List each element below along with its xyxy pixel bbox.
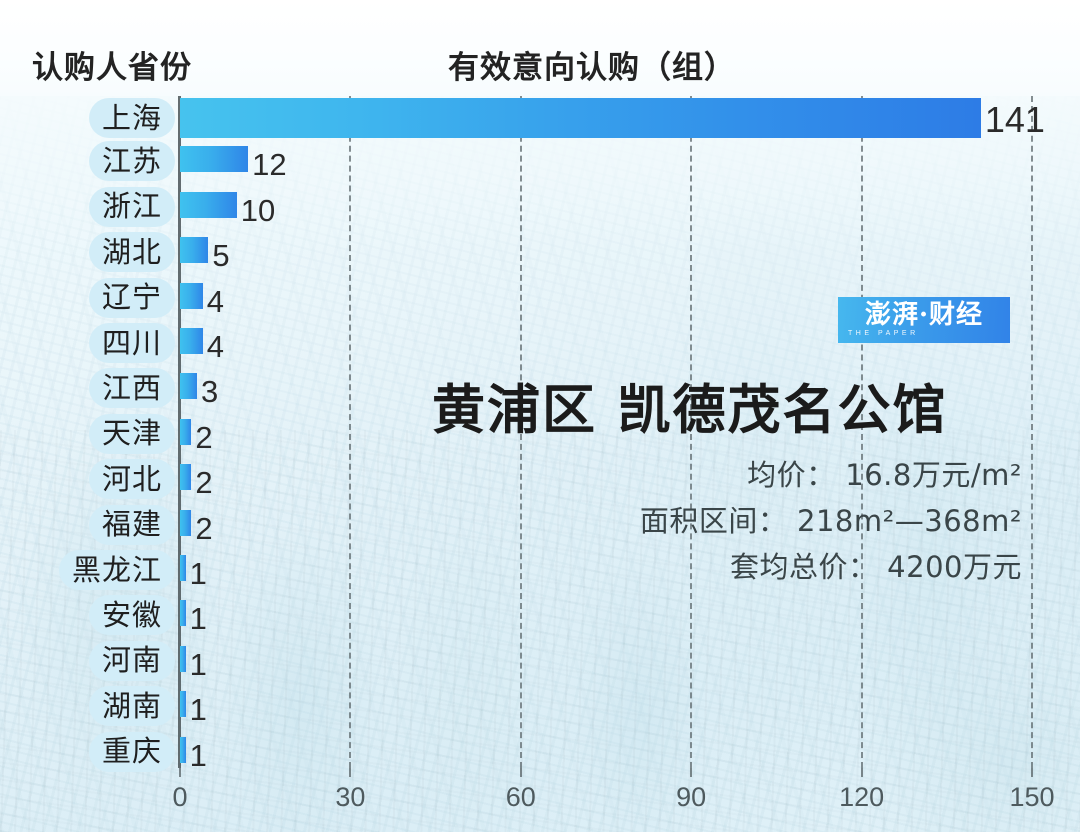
province-label-text: 湖南 — [102, 692, 162, 721]
province-label-text: 湖北 — [102, 238, 162, 267]
bar-value-辽宁: 4 — [207, 286, 224, 317]
column-header-province: 认购人省份 — [32, 42, 192, 87]
province-label-text: 浙江 — [102, 192, 162, 221]
bar-value-江苏: 12 — [252, 149, 286, 180]
bar-浙江 — [180, 192, 237, 218]
bar-value-湖北: 5 — [212, 240, 229, 271]
x-tick-label-60: 60 — [506, 782, 536, 813]
bar-value-重庆: 1 — [190, 740, 207, 771]
chart-title: 有效意向认购（组） — [448, 42, 736, 87]
province-label-text: 江苏 — [102, 147, 162, 176]
logo-wordmark: 澎湃·财经 — [838, 301, 1010, 330]
bar-重庆 — [180, 737, 186, 763]
province-label-4: 湖北 — [89, 232, 175, 272]
logo-subtitle: THE PAPER — [848, 330, 919, 337]
bar-value-湖南: 1 — [190, 694, 207, 725]
province-label-text: 福建 — [102, 510, 162, 539]
bar-湖南 — [180, 691, 186, 717]
x-tick-label-120: 120 — [839, 782, 884, 813]
bar-value-天津: 2 — [195, 422, 212, 453]
property-fact-area-range: 面积区间： 218m²—368m² — [640, 498, 1022, 540]
bar-湖北 — [180, 237, 208, 263]
province-label-text: 安徽 — [102, 601, 162, 630]
chart-row: 安徽1 — [0, 597, 1080, 639]
chart-row: 上海141 — [0, 98, 1080, 142]
property-fact-total-price: 套均总价： 4200万元 — [730, 544, 1022, 586]
bar-value-福建: 2 — [195, 513, 212, 544]
bar-上海 — [180, 98, 981, 138]
bar-福建 — [180, 510, 191, 536]
province-label-13: 河南 — [89, 641, 175, 681]
province-label-text: 辽宁 — [102, 283, 162, 312]
bar-天津 — [180, 419, 191, 445]
property-fact-avg-price: 均价： 16.8万元/m² — [747, 452, 1022, 494]
bar-河南 — [180, 646, 186, 672]
province-label-11: 黑龙江 — [59, 550, 175, 590]
province-label-6: 四川 — [89, 323, 175, 363]
province-label-text: 河南 — [102, 646, 162, 675]
province-label-text: 上海 — [102, 104, 162, 133]
province-label-text: 天津 — [102, 419, 162, 448]
x-tick-label-90: 90 — [676, 782, 706, 813]
province-label-10: 福建 — [89, 505, 175, 545]
province-label-2: 江苏 — [89, 141, 175, 181]
chart-row: 河南1 — [0, 643, 1080, 685]
property-title: 黄浦区 凯德茂名公馆 — [432, 368, 1022, 444]
bar-value-黑龙江: 1 — [190, 558, 207, 589]
bar-value-河北: 2 — [195, 467, 212, 498]
bar-value-上海: 141 — [985, 102, 1045, 138]
x-tick-label-150: 150 — [1009, 782, 1054, 813]
bar-江西 — [180, 373, 197, 399]
province-label-text: 江西 — [102, 374, 162, 403]
chart-row: 湖南1 — [0, 688, 1080, 730]
chart-row: 湖北5 — [0, 234, 1080, 276]
province-label-8: 天津 — [89, 414, 175, 454]
chart-row: 浙江10 — [0, 189, 1080, 231]
bar-value-安徽: 1 — [190, 603, 207, 634]
province-label-14: 湖南 — [89, 686, 175, 726]
province-label-text: 河北 — [102, 465, 162, 494]
chart-row: 江苏12 — [0, 143, 1080, 185]
province-label-15: 重庆 — [89, 732, 175, 772]
the-paper-finance-logo: 澎湃·财经 THE PAPER — [838, 297, 1010, 343]
bar-辽宁 — [180, 283, 203, 309]
province-label-7: 江西 — [89, 368, 175, 408]
province-label-text: 黑龙江 — [72, 556, 162, 585]
bar-四川 — [180, 328, 203, 354]
province-label-12: 安徽 — [89, 595, 175, 635]
x-tick-label-0: 0 — [172, 782, 187, 813]
bar-安徽 — [180, 600, 186, 626]
province-label-1: 上海 — [89, 98, 175, 138]
bar-value-河南: 1 — [190, 649, 207, 680]
bar-value-浙江: 10 — [241, 195, 275, 226]
x-tick-label-30: 30 — [335, 782, 365, 813]
bar-value-四川: 4 — [207, 331, 224, 362]
chart-row: 重庆1 — [0, 734, 1080, 776]
province-label-3: 浙江 — [89, 187, 175, 227]
province-label-9: 河北 — [89, 459, 175, 499]
province-label-text: 重庆 — [102, 737, 162, 766]
province-label-5: 辽宁 — [89, 278, 175, 318]
bar-value-江西: 3 — [201, 376, 218, 407]
bar-黑龙江 — [180, 555, 186, 581]
province-label-text: 四川 — [102, 329, 162, 358]
bar-河北 — [180, 464, 191, 490]
bar-江苏 — [180, 146, 248, 172]
